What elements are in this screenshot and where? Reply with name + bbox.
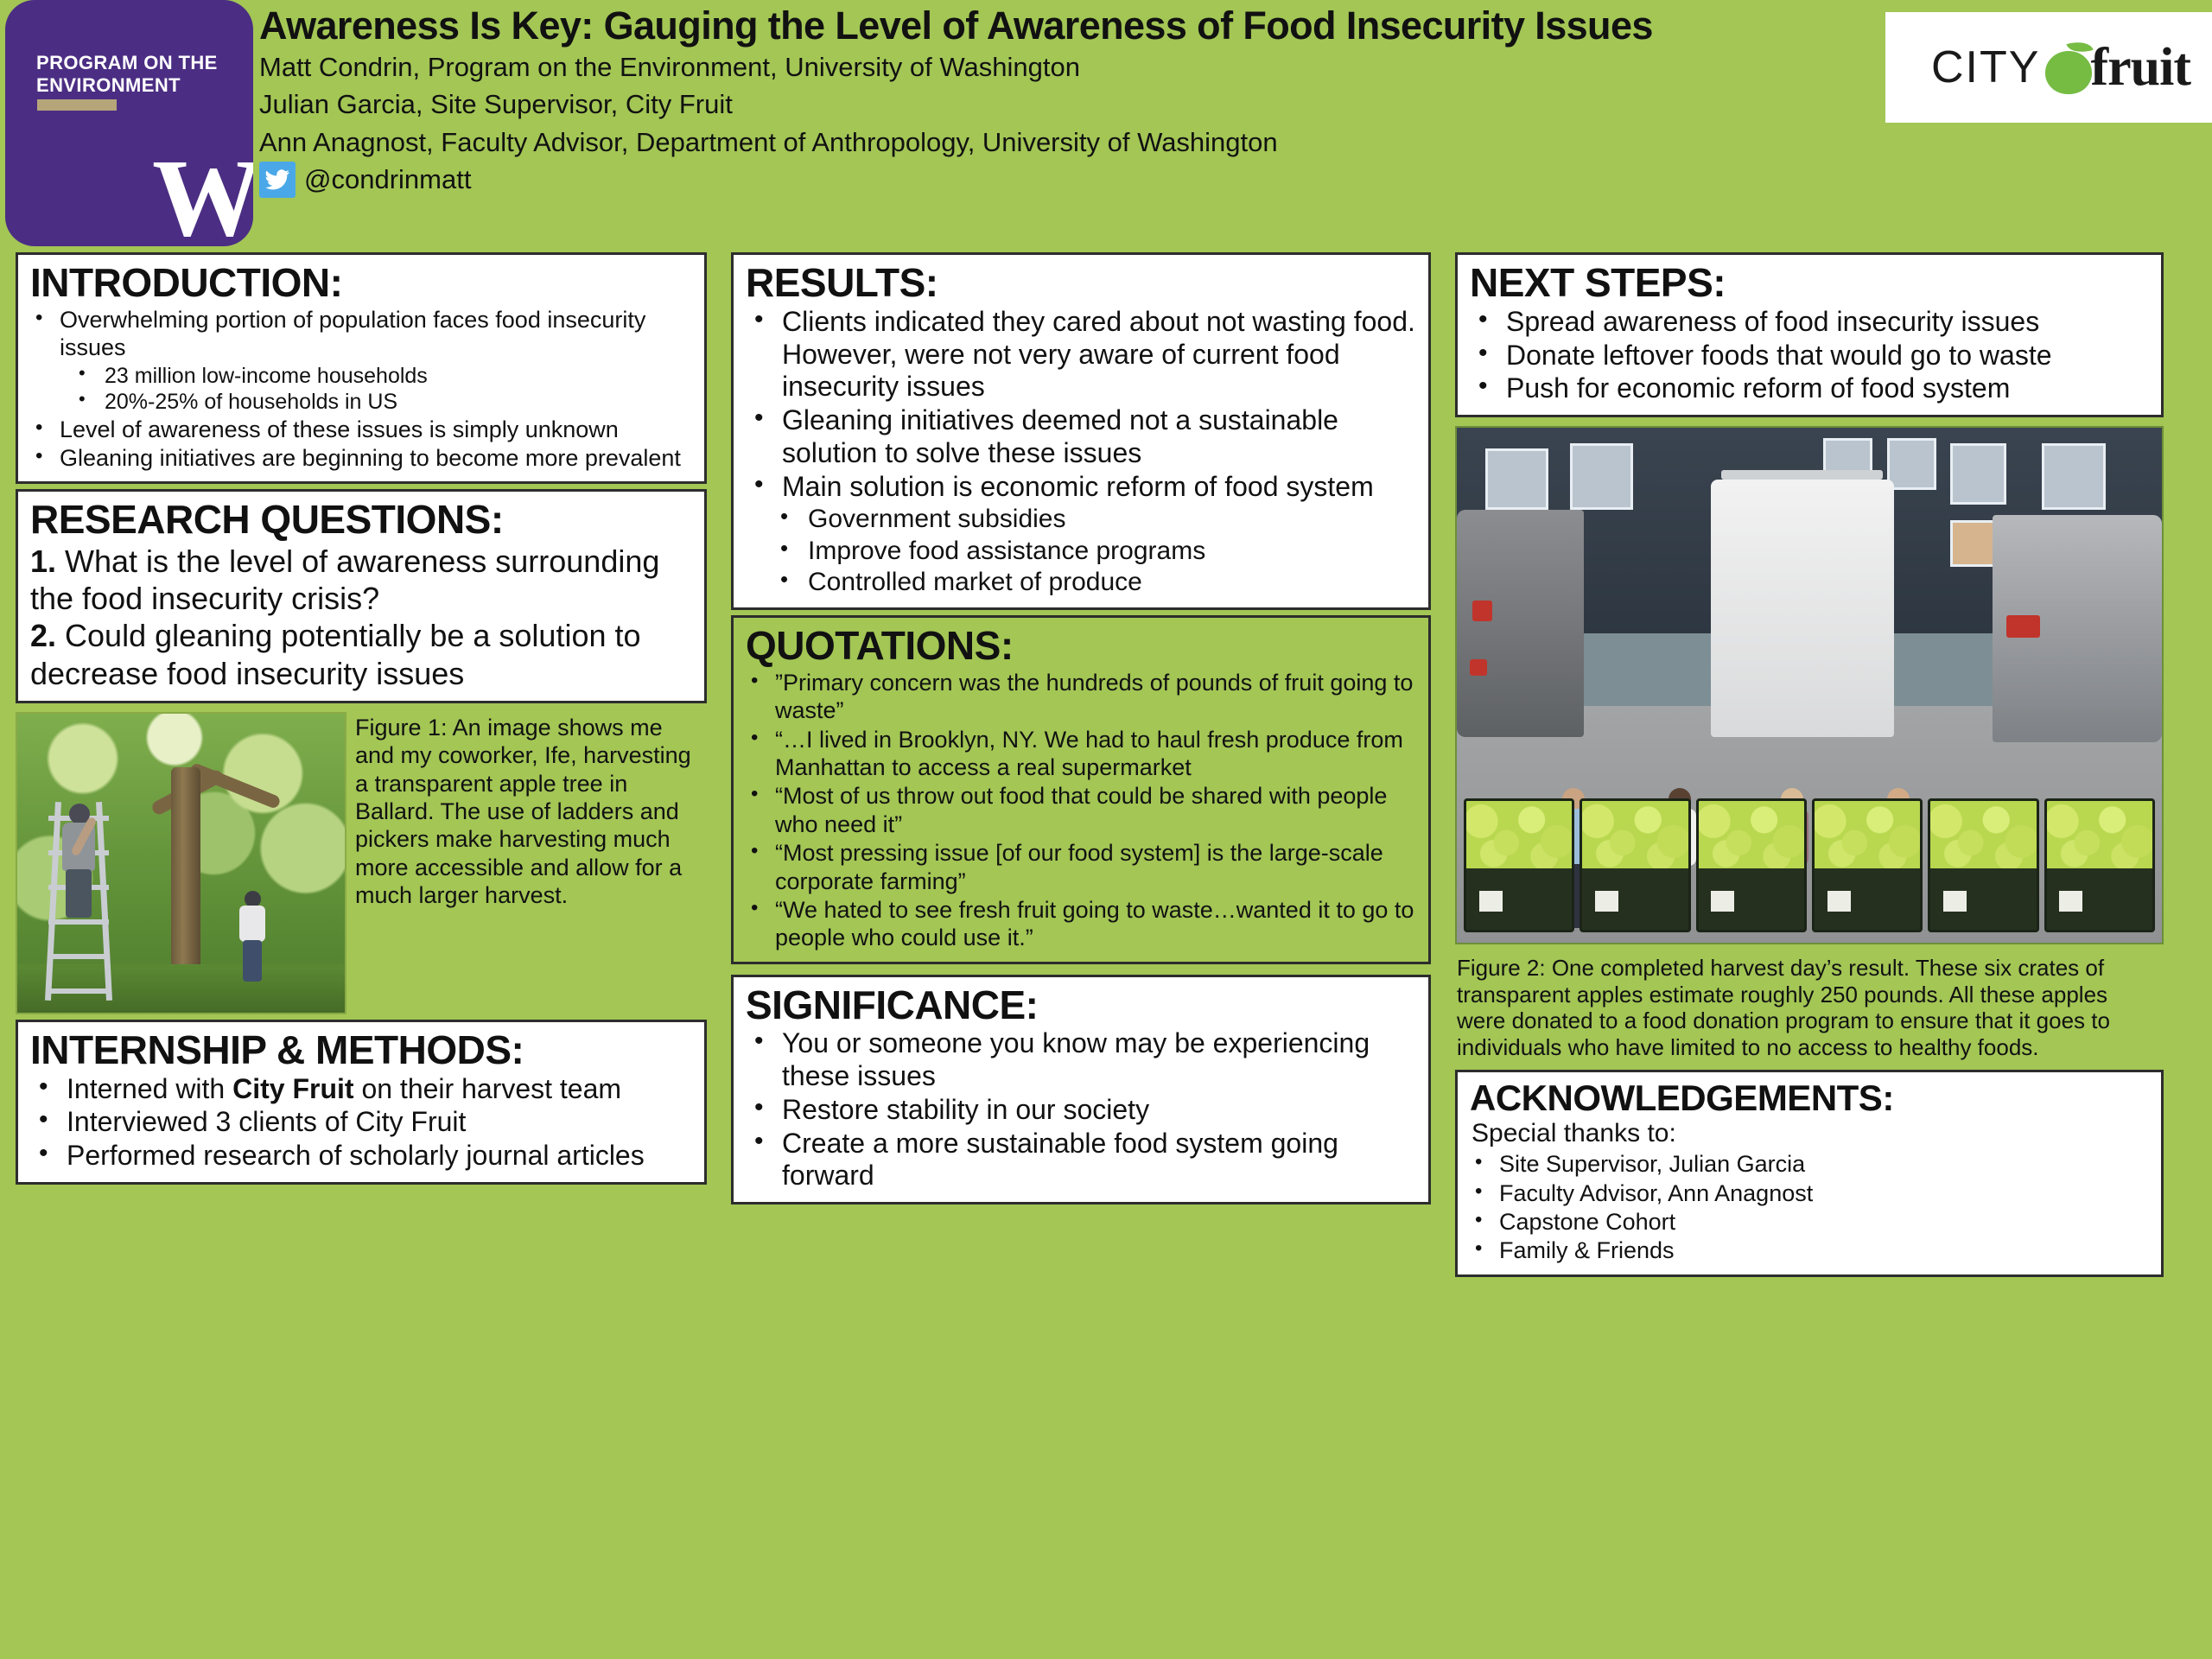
list-item: Push for economic reform of food system bbox=[1470, 372, 2149, 405]
twitter-icon bbox=[259, 162, 296, 198]
list-item: Site Supervisor, Julian Garcia bbox=[1470, 1150, 2149, 1178]
list-item: “…I lived in Brooklyn, NY. We had to hau… bbox=[746, 726, 1416, 782]
list-item: Faculty Advisor, Ann Anagnost bbox=[1470, 1179, 2149, 1207]
apple-crates-row bbox=[1464, 798, 2155, 932]
quotations-panel: QUOTATIONS: ”Primary concern was the hun… bbox=[731, 615, 1431, 964]
uw-program-line1: PROGRAM ON THE bbox=[36, 52, 218, 73]
apple-icon bbox=[2042, 41, 2095, 94]
uw-gold-rule-divider bbox=[37, 99, 117, 111]
crate bbox=[1812, 798, 1923, 932]
research-question-1-text: What is the level of awareness surroundi… bbox=[30, 543, 659, 616]
list-item: You or someone you know may be experienc… bbox=[746, 1027, 1416, 1093]
city-fruit-word-fruit: fruit bbox=[2090, 37, 2190, 99]
research-question-2-number: 2. bbox=[30, 618, 56, 653]
next-steps-panel: NEXT STEPS: Spread awareness of food ins… bbox=[1455, 252, 2164, 417]
list-item: Gleaning initiatives deemed not a sustai… bbox=[746, 404, 1416, 470]
list-item: Government subsidies bbox=[746, 504, 1416, 536]
left-column: INTRODUCTION: Overwhelming portion of po… bbox=[16, 252, 707, 1659]
next-steps-bullets: Spread awareness of food insecurity issu… bbox=[1470, 306, 2149, 405]
page-title: Awareness Is Key: Gauging the Level of A… bbox=[259, 5, 1832, 47]
middle-column: RESULTS: Clients indicated they cared ab… bbox=[731, 252, 1431, 1659]
list-item: ”Primary concern was the hundreds of pou… bbox=[746, 669, 1416, 725]
research-questions-panel: RESEARCH QUESTIONS: 1. What is the level… bbox=[16, 489, 707, 703]
list-item: Spread awareness of food insecurity issu… bbox=[1470, 306, 2149, 339]
uw-w-logo-icon: W bbox=[152, 143, 253, 246]
crate bbox=[1696, 798, 1807, 932]
crate bbox=[1580, 798, 1690, 932]
person-coworker bbox=[238, 891, 267, 986]
acknowledgements-subheading: Special thanks to: bbox=[1471, 1119, 2149, 1148]
figure1-photo-apple-tree-harvest bbox=[16, 712, 346, 1014]
research-questions-heading: RESEARCH QUESTIONS: bbox=[30, 499, 692, 541]
author-line-1: Matt Condrin, Program on the Environment… bbox=[259, 50, 1832, 85]
white-van-in-photo bbox=[1711, 480, 1894, 737]
significance-bullets: You or someone you know may be experienc… bbox=[746, 1027, 1416, 1192]
list-item: Restore stability in our society bbox=[746, 1094, 1416, 1127]
internship-methods-bullets: Interned with City Fruit on their harves… bbox=[30, 1073, 692, 1173]
title-block: Awareness Is Key: Gauging the Level of A… bbox=[259, 5, 1832, 198]
introduction-sub-bullets: 23 million low-income households 20%-25%… bbox=[30, 363, 692, 416]
list-item: Interviewed 3 clients of City Fruit bbox=[30, 1106, 692, 1139]
research-question-1: 1. What is the level of awareness surrou… bbox=[30, 543, 692, 617]
person-on-ladder bbox=[59, 804, 99, 933]
introduction-bullets: Overwhelming portion of population faces… bbox=[30, 306, 692, 362]
significance-heading: SIGNIFICANCE: bbox=[746, 984, 1416, 1027]
list-item: Donate leftover foods that would go to w… bbox=[1470, 340, 2149, 372]
significance-panel: SIGNIFICANCE: You or someone you know ma… bbox=[731, 975, 1431, 1205]
acknowledgements-heading: ACKNOWLEDGEMENTS: bbox=[1470, 1079, 2149, 1118]
city-fruit-logo: CITY fruit bbox=[1885, 12, 2212, 123]
introduction-panel: INTRODUCTION: Overwhelming portion of po… bbox=[16, 252, 707, 484]
poster-header: PROGRAM ON THE ENVIRONMENT W Awareness I… bbox=[0, 0, 2212, 252]
list-item: Clients indicated they cared about not w… bbox=[746, 306, 1416, 404]
twitter-handle: @condrinmatt bbox=[304, 164, 471, 195]
list-item: Create a more sustainable food system go… bbox=[746, 1128, 1416, 1193]
list-item: Overwhelming portion of population faces… bbox=[30, 306, 692, 362]
list-item: 20%-25% of households in US bbox=[30, 389, 692, 416]
results-bullets: Clients indicated they cared about not w… bbox=[746, 306, 1416, 504]
car-left-in-photo bbox=[1457, 510, 1584, 736]
list-item: Family & Friends bbox=[1470, 1236, 2149, 1264]
right-column: NEXT STEPS: Spread awareness of food ins… bbox=[1455, 252, 2164, 1659]
list-item: “Most of us throw out food that could be… bbox=[746, 782, 1416, 838]
internship-methods-heading: INTERNSHIP & METHODS: bbox=[30, 1029, 692, 1071]
list-item: Main solution is economic reform of food… bbox=[746, 471, 1416, 504]
list-item: Controlled market of produce bbox=[746, 567, 1416, 599]
list-item: Gleaning initiatives are beginning to be… bbox=[30, 444, 692, 472]
introduction-heading: INTRODUCTION: bbox=[30, 262, 692, 304]
results-heading: RESULTS: bbox=[746, 262, 1416, 304]
figure1-block: Figure 1: An image shows me and my cowor… bbox=[16, 712, 707, 1014]
list-item: 23 million low-income households bbox=[30, 363, 692, 390]
list-item: Level of awareness of these issues is si… bbox=[30, 416, 692, 443]
author-line-3: Ann Anagnost, Faculty Advisor, Departmen… bbox=[259, 125, 1832, 160]
research-question-2-text: Could gleaning potentially be a solution… bbox=[30, 618, 641, 690]
author-line-2: Julian Garcia, Site Supervisor, City Fru… bbox=[259, 87, 1832, 122]
next-steps-heading: NEXT STEPS: bbox=[1470, 262, 2149, 304]
twitter-row: @condrinmatt bbox=[259, 162, 1832, 198]
quotations-heading: QUOTATIONS: bbox=[746, 625, 1416, 667]
introduction-bullets-rest: Level of awareness of these issues is si… bbox=[30, 416, 692, 473]
poster-body: INTRODUCTION: Overwhelming portion of po… bbox=[0, 252, 2212, 1659]
acknowledgements-panel: ACKNOWLEDGEMENTS: Special thanks to: Sit… bbox=[1455, 1070, 2164, 1277]
acknowledgements-bullets: Site Supervisor, Julian Garcia Faculty A… bbox=[1470, 1150, 2149, 1265]
list-item: Performed research of scholarly journal … bbox=[30, 1140, 692, 1173]
list-item: Capstone Cohort bbox=[1470, 1208, 2149, 1236]
list-item: Interned with City Fruit on their harves… bbox=[30, 1073, 692, 1106]
figure2-caption: Figure 2: One completed harvest day’s re… bbox=[1455, 950, 2164, 1065]
car-right-in-photo bbox=[1993, 515, 2162, 741]
figure2-photo-harvest-crew-with-apple-crates bbox=[1455, 426, 2164, 944]
list-item: Improve food assistance programs bbox=[746, 536, 1416, 568]
crate bbox=[2044, 798, 2155, 932]
list-item: “We hated to see fresh fruit going to wa… bbox=[746, 896, 1416, 952]
results-panel: RESULTS: Clients indicated they cared ab… bbox=[731, 252, 1431, 610]
city-fruit-word-city: CITY bbox=[1931, 41, 2040, 93]
internship-methods-panel: INTERNSHIP & METHODS: Interned with City… bbox=[16, 1020, 707, 1185]
uw-program-label: PROGRAM ON THE ENVIRONMENT bbox=[36, 52, 226, 97]
research-question-1-number: 1. bbox=[30, 543, 56, 579]
uw-program-line2: ENVIRONMENT bbox=[36, 74, 181, 96]
figure1-caption: Figure 1: An image shows me and my cowor… bbox=[355, 712, 707, 910]
crate bbox=[1464, 798, 1574, 932]
quotations-bullets: ”Primary concern was the hundreds of pou… bbox=[746, 669, 1416, 952]
crate bbox=[1928, 798, 2038, 932]
uw-program-on-environment-badge: PROGRAM ON THE ENVIRONMENT W bbox=[5, 0, 253, 246]
results-sub-bullets: Government subsidies Improve food assist… bbox=[746, 504, 1416, 599]
list-item: “Most pressing issue [of our food system… bbox=[746, 839, 1416, 895]
research-question-2: 2. Could gleaning potentially be a solut… bbox=[30, 617, 692, 691]
